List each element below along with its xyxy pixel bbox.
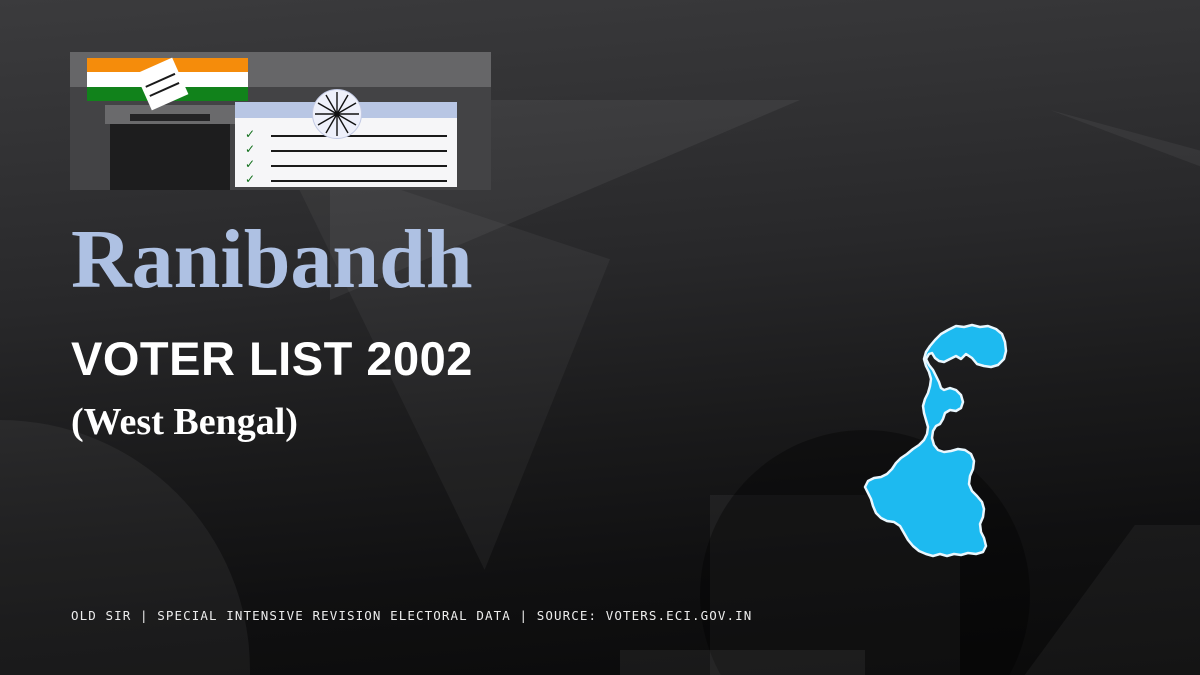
page-title: Ranibandh xyxy=(71,218,473,302)
checkmark-icon: ✓ xyxy=(245,143,255,155)
document-row-line xyxy=(271,180,447,182)
ballot-box-icon xyxy=(105,105,235,190)
bg-diagonal-bottom-right-shape xyxy=(1010,525,1200,675)
document-row: ✓ xyxy=(245,142,447,157)
ballot-box-body xyxy=(110,124,230,190)
document-row: ✓ xyxy=(245,172,447,187)
checkmark-icon: ✓ xyxy=(245,128,255,140)
page-region-name: (West Bengal) xyxy=(71,403,298,441)
election-illustration: ✓ ✓ ✓ ✓ xyxy=(70,52,491,190)
bg-rect-bottom-bar-shape xyxy=(620,650,865,675)
page-subtitle: VOTER LIST 2002 xyxy=(71,335,473,382)
footer-source-text: OLD SIR | SPECIAL INTENSIVE REVISION ELE… xyxy=(71,608,752,623)
document-row-line xyxy=(271,150,447,152)
document-row: ✓ xyxy=(245,157,447,172)
checkmark-icon: ✓ xyxy=(245,173,255,185)
bg-sliver-top-right-shape xyxy=(1050,110,1200,170)
ballot-box-lid xyxy=(105,105,235,124)
ballot-box-slot xyxy=(130,114,210,121)
slide-root: ✓ ✓ ✓ ✓ xyxy=(0,0,1200,675)
west-bengal-map xyxy=(860,318,1020,578)
document-row-line xyxy=(271,165,447,167)
checkmark-icon: ✓ xyxy=(245,158,255,170)
ashoka-chakra-icon xyxy=(312,89,362,139)
bg-circle-left-shape xyxy=(0,420,250,675)
